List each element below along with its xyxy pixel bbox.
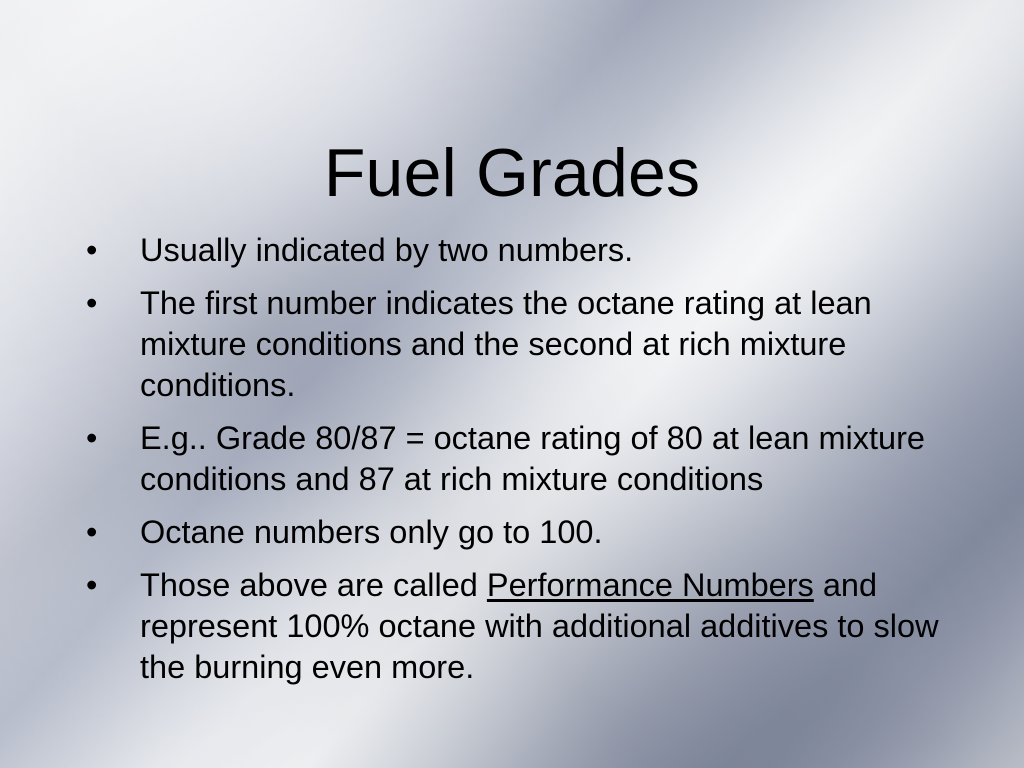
slide-title: Fuel Grades [0,138,1024,209]
bullet-text: The first number indicates the octane ra… [140,283,944,406]
slide-content: Fuel Grades • Usually indicated by two n… [0,0,1024,768]
bullet-text: Usually indicated by two numbers. [140,230,944,271]
presentation-slide: Fuel Grades • Usually indicated by two n… [0,0,1024,768]
list-item: • Usually indicated by two numbers. [78,230,944,271]
bullet-point-icon: • [86,230,106,271]
bullet-point-icon: • [86,418,106,459]
bullet-text: E.g.. Grade 80/87 = octane rating of 80 … [140,418,944,500]
bullet-point-icon: • [86,512,106,553]
list-item: • E.g.. Grade 80/87 = octane rating of 8… [78,418,944,500]
bullet-text-segment-underlined: Performance Numbers [487,567,814,603]
list-item: • Those above are called Performance Num… [78,565,944,688]
list-item: • The first number indicates the octane … [78,283,944,406]
bullet-text-segment-leading: Those above are called [140,567,487,603]
bullet-point-icon: • [86,565,106,606]
bullet-text: Octane numbers only go to 100. [140,512,944,553]
bullet-point-icon: • [86,283,106,324]
bullet-list: • Usually indicated by two numbers. • Th… [78,230,944,688]
bullet-text: Those above are called Performance Numbe… [140,565,944,688]
list-item: • Octane numbers only go to 100. [78,512,944,553]
